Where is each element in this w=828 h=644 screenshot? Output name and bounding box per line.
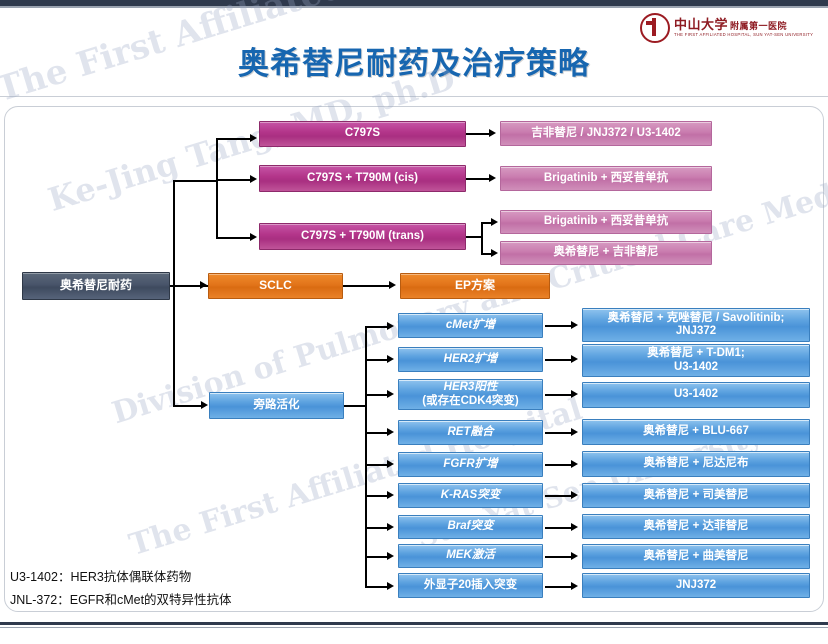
arrow-mech-8 [387,552,394,560]
mechanism-box[interactable]: MEK激活 [398,544,543,568]
arrow-mech-5 [387,460,394,468]
bottom-rule [0,622,828,625]
arrow-mech-2 [387,355,394,363]
treatment-sublabel: U3-1402 [674,361,718,374]
node-c797s[interactable]: C797S [259,121,466,147]
connector-bypass-stub [344,405,366,407]
node-root-resistance[interactable]: 奥希替尼耐药 [22,272,170,300]
arrow-tx-8 [571,552,578,560]
treatment-box[interactable]: 奥希替尼 + T-DM1; U3-1402 [582,344,810,377]
mechanism-label: RET融合 [448,426,494,439]
arrow-trans-tx2 [491,249,498,257]
connector-tx-7 [545,527,573,529]
connector-tx-2 [545,359,573,361]
arrow-mech-3 [387,390,394,398]
connector-trans-stub [466,236,482,238]
node-c797s-t790m-cis[interactable]: C797S + T790M (cis) [259,165,466,192]
connector-tx-9 [545,586,573,588]
connector-tx-8 [545,556,573,558]
arrow-tx-3 [571,390,578,398]
logo-chinese: 中山大学附属第一医院 [674,18,813,31]
treatment-c797s-label: 吉非替尼 / JNJ372 / U3-1402 [531,127,681,140]
arrow-to-bypass [201,401,208,409]
arrow-mech-1 [387,322,394,330]
header-divider [0,96,828,97]
treatment-trans-2[interactable]: 奥希替尼 + 吉非替尼 [500,241,712,265]
footnote-u3-1402: U3-1402：HER3抗体偶联体药物 [10,566,191,585]
connector-mech-7 [365,527,389,529]
mechanism-box[interactable]: HER3阳性 (或存在CDK4突变) [398,379,543,410]
node-sclc-label: SCLC [259,279,292,293]
mechanism-label: Braf突变 [447,520,493,533]
footnote-jnl-372: JNL-372：EGFR和cMet的双特异性抗体 [10,589,232,608]
connector-root-to-magenta [173,180,218,182]
treatment-box[interactable]: 奥希替尼 + BLU-667 [582,419,810,445]
arrow-tx-7 [571,523,578,531]
arrow-mech-7 [387,523,394,531]
connector-mech-8 [365,556,389,558]
arrow-mech-6 [387,491,394,499]
treatment-box[interactable]: 奥希替尼 + 曲美替尼 [582,544,810,569]
treatment-trans-2-label: 奥希替尼 + 吉非替尼 [553,246,658,259]
arrow-mech-9 [387,582,394,590]
mechanism-box[interactable]: Braf突变 [398,515,543,539]
arrow-cis-tx [489,174,496,182]
treatment-box[interactable]: U3-1402 [582,382,810,408]
arrow-tx-1 [571,321,578,329]
node-root-label: 奥希替尼耐药 [60,279,132,293]
connector-tx-6 [545,495,573,497]
connector-magenta-spine [216,138,218,238]
treatment-box[interactable]: 奥希替尼 + 克唑替尼 / Savolitinib; JNJ372 [582,308,810,342]
treatment-label: U3-1402 [674,388,718,401]
treatment-trans-1-label: Brigatinib + 西妥昔单抗 [544,215,668,228]
arrow-tx-9 [571,582,578,590]
node-ep-regimen-label: EP方案 [455,279,495,293]
connector-mech-9 [365,586,389,588]
connector-magenta-c797s [216,138,252,140]
arrow-tx-5 [571,460,578,468]
mechanism-label: 外显子20插入突变 [424,579,517,592]
treatment-box[interactable]: 奥希替尼 + 尼达尼布 [582,451,810,477]
connector-mech-1 [365,326,389,328]
treatment-label: 奥希替尼 + 曲美替尼 [643,550,748,563]
bottom-rule-secondary [0,627,828,628]
mechanism-box[interactable]: K-RAS突变 [398,483,543,508]
connector-c797s-to-tx [466,133,491,135]
connector-tx-5 [545,464,573,466]
connector-mech-4 [365,432,389,434]
connector-mech-5 [365,464,389,466]
treatment-box[interactable]: 奥希替尼 + 达菲替尼 [582,514,810,539]
slide: 中山大学附属第一医院 THE FIRST AFFILIATED HOSPITAL… [0,0,828,644]
connector-cis-to-tx [466,178,491,180]
mechanism-box[interactable]: RET融合 [398,420,543,445]
treatment-box[interactable]: JNJ372 [582,573,810,598]
logo-text: 中山大学附属第一医院 THE FIRST AFFILIATED HOSPITAL… [674,18,813,37]
mechanism-label: K-RAS突变 [441,489,500,502]
arrow-sclc-ep [389,281,396,289]
treatment-label: 奥希替尼 + 克唑替尼 / Savolitinib; [608,312,785,325]
node-c797s-t790m-trans[interactable]: C797S + T790M (trans) [259,223,466,250]
connector-root-v [173,180,175,407]
treatment-sublabel: JNJ372 [676,325,716,338]
connector-magenta-trans [216,237,252,239]
treatment-label: 奥希替尼 + T-DM1; [647,347,744,360]
top-rule-secondary [0,6,828,8]
page-title: 奥希替尼耐药及治疗策略 [0,38,828,83]
arrow-to-c797s [250,134,257,142]
node-c797s-label: C797S [345,127,380,140]
connector-tx-3 [545,394,573,396]
mechanism-label: MEK激活 [446,549,495,562]
mechanism-box[interactable]: HER2扩增 [398,347,543,372]
connector-trans-split [481,222,483,255]
arrow-trans-tx1 [491,218,498,226]
arrow-to-sclc [200,281,207,289]
mechanism-box[interactable]: FGFR扩增 [398,452,543,477]
connector-magenta-cis [216,179,252,181]
node-c797s-t790m-trans-label: C797S + T790M (trans) [301,230,424,243]
mechanism-label: HER3阳性 [444,381,498,394]
logo-university-name: 中山大学 [674,17,728,32]
arrow-tx-6 [571,491,578,499]
connector-mech-6 [365,495,389,497]
arrow-tx-4 [571,428,578,436]
connector-mech-3 [365,394,389,396]
connector-tx-1 [545,325,573,327]
arrow-to-c797s-cis [250,175,257,183]
mechanism-label: cMet扩增 [446,319,495,332]
node-ep-regimen[interactable]: EP方案 [400,273,550,299]
connector-mech-2 [365,359,389,361]
mechanism-sublabel: (或存在CDK4突变) [422,395,518,408]
treatment-box[interactable]: 奥希替尼 + 司美替尼 [582,483,810,508]
treatment-label: 奥希替尼 + 尼达尼布 [643,457,748,470]
connector-tx-4 [545,432,573,434]
treatment-cis[interactable]: Brigatinib + 西妥昔单抗 [500,166,712,191]
arrow-to-c797s-trans [250,233,257,241]
treatment-label: JNJ372 [676,579,716,592]
mechanism-label: HER2扩增 [444,353,498,366]
arrow-tx-2 [571,355,578,363]
mechanism-box[interactable]: cMet扩增 [398,313,543,338]
treatment-c797s[interactable]: 吉非替尼 / JNJ372 / U3-1402 [500,121,712,146]
logo-hospital-name: 附属第一医院 [730,21,787,31]
arrow-mech-4 [387,428,394,436]
treatment-label: 奥希替尼 + BLU-667 [643,425,749,438]
node-sclc[interactable]: SCLC [208,273,343,299]
treatment-label: 奥希替尼 + 达菲替尼 [643,520,748,533]
mechanism-label: FGFR扩增 [443,458,497,471]
connector-root-to-bypass [173,405,203,407]
treatment-trans-1[interactable]: Brigatinib + 西妥昔单抗 [500,210,712,234]
connector-sclc-to-ep [343,285,391,287]
mechanism-box[interactable]: 外显子20插入突变 [398,573,543,598]
arrow-c797s-tx [489,129,496,137]
treatment-label: 奥希替尼 + 司美替尼 [643,489,748,502]
connector-bypass-spine [365,326,367,586]
node-c797s-t790m-cis-label: C797S + T790M (cis) [307,172,418,185]
node-bypass-label: 旁路活化 [254,399,300,412]
treatment-cis-label: Brigatinib + 西妥昔单抗 [544,172,668,185]
node-bypass-activation[interactable]: 旁路活化 [209,392,344,419]
logo-english: THE FIRST AFFILIATED HOSPITAL, SUN YAT-S… [674,33,813,37]
